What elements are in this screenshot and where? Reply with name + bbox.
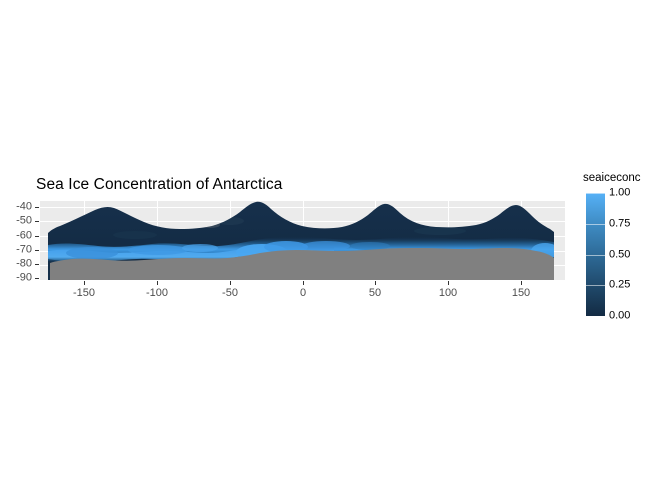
sea-ice-raster	[40, 201, 565, 280]
y-tick-label: -70	[16, 245, 32, 256]
y-tick-mark	[35, 221, 39, 222]
y-tick-label: -90	[16, 273, 32, 284]
x-tick-mark	[448, 281, 449, 285]
y-tick-label: -40	[16, 202, 32, 213]
legend-label: 0.50	[609, 249, 630, 260]
x-tick-label: -100	[146, 288, 168, 299]
y-tick-mark	[35, 207, 39, 208]
legend-tick	[586, 255, 605, 256]
y-tick-label: -50	[16, 216, 32, 227]
y-tick-mark	[35, 264, 39, 265]
legend-label: 1.00	[609, 188, 630, 199]
y-tick-mark	[35, 236, 39, 237]
x-tick-label: 150	[512, 288, 530, 299]
legend-label: 0.75	[609, 218, 630, 229]
y-tick-mark	[35, 278, 39, 279]
x-tick-mark	[230, 281, 231, 285]
plot-panel	[40, 201, 565, 280]
x-tick-label: -50	[222, 288, 238, 299]
legend-tick	[586, 224, 605, 225]
x-tick-mark	[84, 281, 85, 285]
page-title: Sea Ice Concentration of Antarctica	[36, 176, 282, 194]
y-tick-label: -60	[16, 231, 32, 242]
legend-label: 0.00	[609, 311, 630, 322]
legend-tick	[586, 316, 605, 317]
x-tick-mark	[521, 281, 522, 285]
x-tick-label: 50	[369, 288, 381, 299]
x-tick-label: 0	[300, 288, 306, 299]
y-axis: -40 -50 -60 -70 -80 -90	[0, 0, 32, 480]
x-tick-mark	[375, 281, 376, 285]
raster-layer	[40, 201, 565, 280]
y-tick-mark	[35, 250, 39, 251]
x-tick-label: 100	[439, 288, 457, 299]
y-tick-label: -80	[16, 259, 32, 270]
legend-label: 0.25	[609, 280, 630, 291]
legend-title: seaiceconc	[583, 172, 641, 184]
plot-root: Sea Ice Concentration of Antarctica	[0, 0, 672, 480]
x-tick-mark	[303, 281, 304, 285]
x-tick-mark	[157, 281, 158, 285]
legend-tick	[586, 193, 605, 194]
legend-tick	[586, 285, 605, 286]
x-tick-label: -150	[73, 288, 95, 299]
